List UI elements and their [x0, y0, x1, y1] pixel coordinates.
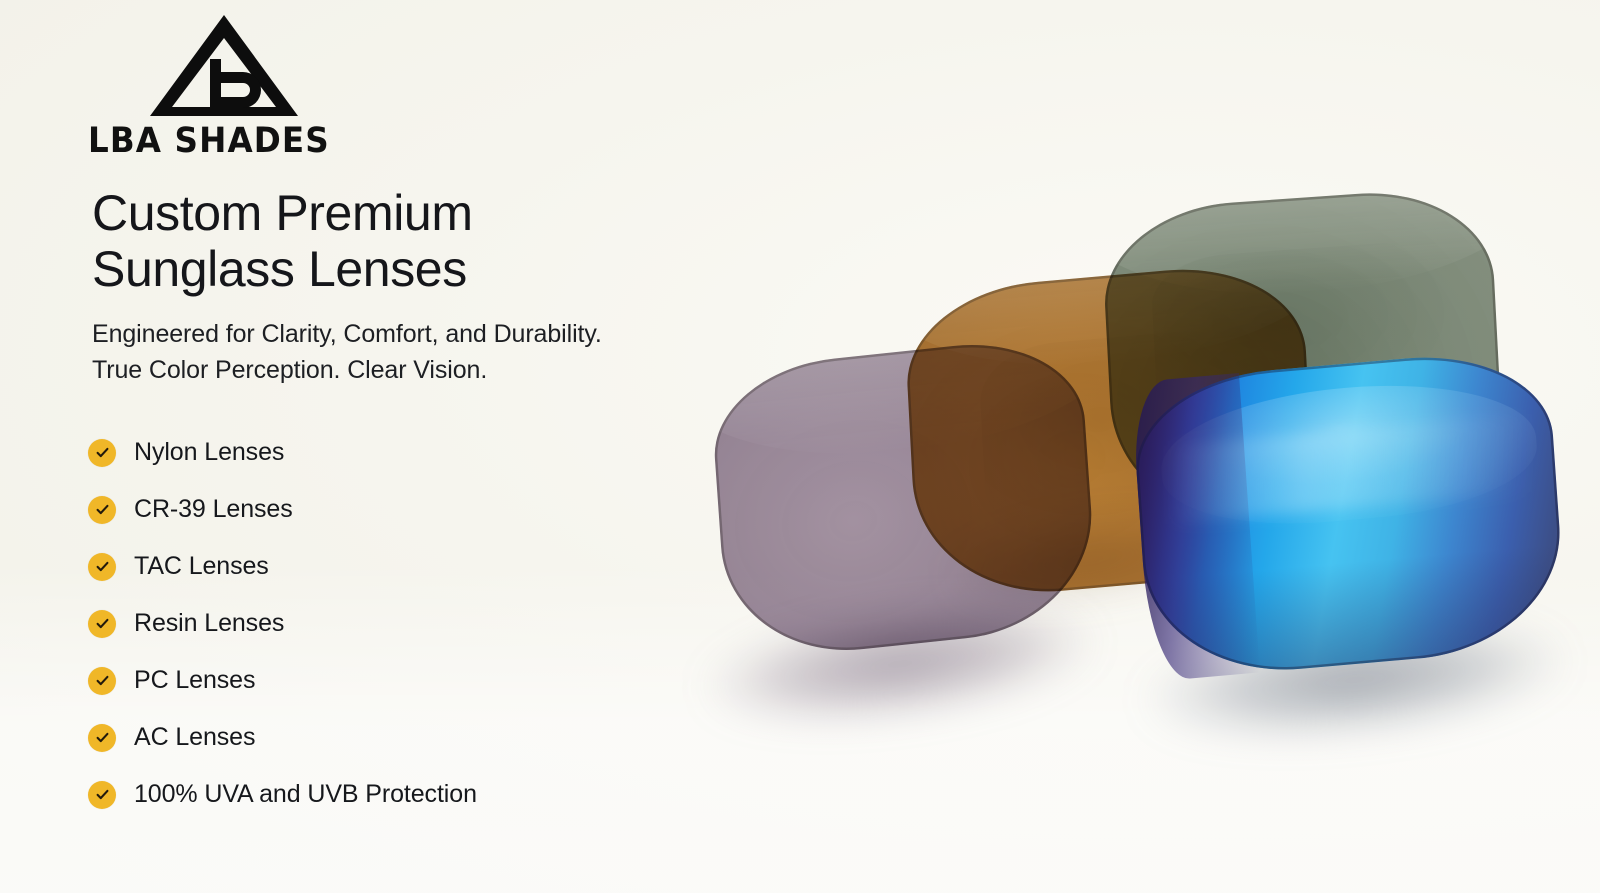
feature-label: TAC Lenses — [134, 554, 269, 579]
check-icon — [88, 781, 116, 809]
triangle-monogram-icon — [148, 12, 300, 120]
feature-label: Resin Lenses — [134, 611, 284, 636]
feature-label: Nylon Lenses — [134, 440, 284, 465]
feature-label: PC Lenses — [134, 668, 255, 693]
check-icon — [88, 553, 116, 581]
check-icon — [88, 667, 116, 695]
check-icon — [88, 496, 116, 524]
feature-label: AC Lenses — [134, 725, 255, 750]
check-icon — [88, 439, 116, 467]
product-image — [640, 0, 1600, 893]
feature-label: 100% UVA and UVB Protection — [134, 782, 477, 807]
promo-banner: LBA SHADES Custom Premium Sunglass Lense… — [0, 0, 1600, 893]
check-icon — [88, 724, 116, 752]
grey-lens — [709, 333, 1099, 663]
blue-lens — [1130, 346, 1567, 682]
grey-lens-rim — [709, 333, 1099, 663]
check-icon — [88, 610, 116, 638]
feature-label: CR-39 Lenses — [134, 497, 293, 522]
